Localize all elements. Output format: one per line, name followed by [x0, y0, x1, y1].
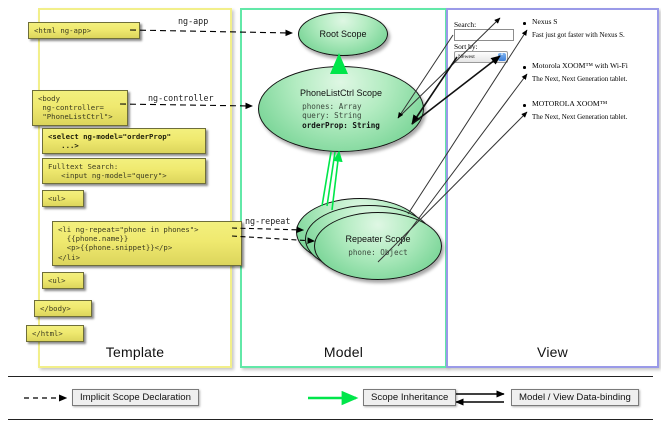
panel-template-label: Template — [40, 344, 230, 360]
list-bullet-icon — [523, 22, 526, 25]
fulltext-search-box: Fulltext Search: <input ng-model="query"… — [42, 158, 206, 184]
view-phone-snippet: The Next, Next Generation tablet. — [532, 113, 627, 121]
phonelistctrl-scope-props: phones: Array query: String orderProp: S… — [302, 102, 380, 130]
li-ngrepeat-box: <li ng-repeat="phone in phones"> {{phone… — [52, 221, 242, 266]
view-phone-name[interactable]: Motorola XOOM™ with Wi-Fi — [532, 61, 628, 70]
phonelistctrl-props-bold: orderProp: String — [302, 121, 380, 130]
diagram-canvas: Template Model View <html ng-app> <body … — [0, 0, 661, 425]
legend-implicit-scope: Implicit Scope Declaration — [72, 389, 199, 406]
panel-model: Model — [240, 8, 447, 368]
view-sort-select-value: Newest — [458, 54, 475, 60]
html-close-box: </html> — [26, 325, 84, 342]
legend: Implicit Scope Declaration Scope Inherit… — [8, 376, 653, 420]
view-sort-select[interactable]: Newest ⇕ — [454, 51, 508, 63]
body-controller-box: <body ng-controller= "PhoneListCtrl"> — [32, 90, 128, 126]
ul-close-box: <ul> — [42, 272, 84, 289]
ul-open-box: <ul> — [42, 190, 84, 207]
edge-label-ng-controller: ng-controller — [148, 93, 214, 103]
list-bullet-icon — [523, 104, 526, 107]
view-phone-snippet: Fast just got faster with Nexus S. — [532, 31, 625, 39]
root-scope: Root Scope — [298, 12, 388, 56]
view-phone-snippet: The Next, Next Generation tablet. — [532, 75, 627, 83]
panel-model-label: Model — [242, 344, 445, 360]
select-orderprop-box: <select ng-model="orderProp" ...> — [42, 128, 206, 154]
body-close-box: </body> — [34, 300, 92, 317]
phonelistctrl-props-plain: phones: Array query: String — [302, 102, 361, 120]
html-tag-box: <html ng-app> — [28, 22, 140, 39]
edge-label-ng-repeat: ng-repeat — [245, 216, 290, 226]
view-phone-name[interactable]: MOTOROLA XOOM™ — [532, 99, 607, 108]
phonelistctrl-scope-title: PhoneListCtrl Scope — [300, 88, 382, 99]
chevron-updown-icon: ⇕ — [498, 53, 506, 61]
root-scope-title: Root Scope — [319, 29, 366, 40]
phonelistctrl-scope: PhoneListCtrl Scope phones: Array query:… — [258, 66, 424, 152]
view-search-label: Search: — [454, 20, 476, 29]
edge-label-ng-app: ng-app — [178, 16, 208, 26]
view-search-input[interactable] — [454, 29, 514, 41]
list-bullet-icon — [523, 66, 526, 69]
repeater-scope-props: phone: Object — [348, 248, 407, 257]
legend-scope-inheritance: Scope Inheritance — [363, 389, 456, 406]
repeater-scope: Repeater Scope phone: Object — [314, 212, 442, 280]
legend-data-binding: Model / View Data-binding — [511, 389, 639, 406]
view-phone-name[interactable]: Nexus S — [532, 17, 558, 26]
panel-view-label: View — [448, 344, 657, 360]
repeater-scope-title: Repeater Scope — [345, 234, 410, 245]
view-sort-label: Sort by: — [454, 42, 478, 51]
